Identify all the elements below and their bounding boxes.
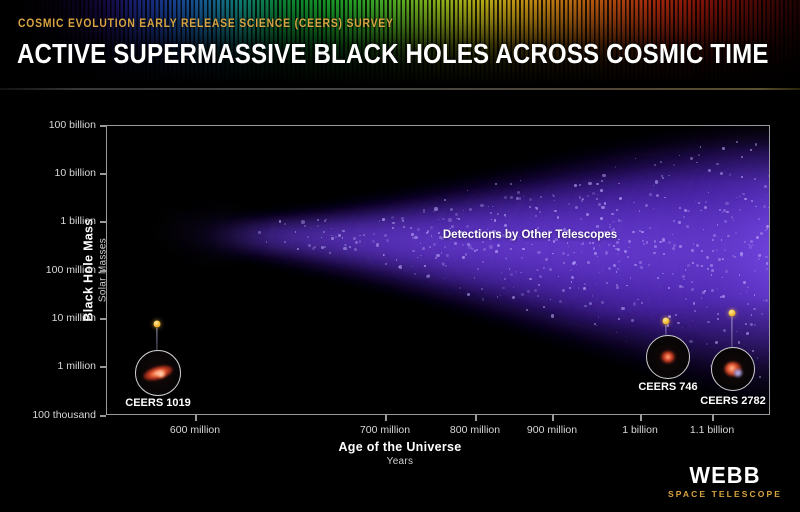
infographic-poster: COSMIC EVOLUTION EARLY RELEASE SCIENCE (… [0, 0, 800, 512]
detection-speckle [567, 254, 569, 256]
detection-speckle [608, 244, 610, 246]
detection-speckle [654, 240, 656, 242]
detection-speckle [465, 253, 467, 255]
x-tick-label: 600 million [170, 424, 220, 436]
ceers-connector-line [156, 328, 157, 350]
detection-speckle [696, 244, 699, 247]
detection-speckle [653, 185, 654, 186]
detection-speckle [266, 241, 267, 242]
detection-speckle [372, 240, 375, 243]
detection-speckle [601, 180, 603, 182]
detection-speckle [500, 295, 501, 296]
detection-speckle [757, 357, 759, 359]
detection-speckle [754, 178, 756, 180]
detection-speckle [468, 245, 471, 248]
detection-speckle [754, 270, 756, 272]
detection-speckle [342, 237, 344, 239]
detection-speckle [526, 243, 528, 245]
detection-speckle [617, 268, 619, 270]
detection-speckle [576, 264, 577, 265]
detection-speckle [549, 268, 552, 271]
detection-speckle [672, 234, 673, 235]
detection-speckle [513, 287, 514, 288]
detection-speckle [617, 253, 619, 255]
detection-speckle [515, 271, 517, 273]
detection-speckle [495, 250, 498, 253]
detection-speckle [686, 225, 689, 228]
detection-speckle [581, 251, 582, 252]
detection-speckle [768, 207, 770, 209]
detection-speckle [379, 220, 381, 222]
detection-speckle [571, 276, 574, 279]
detection-speckle [663, 253, 665, 255]
detection-speckle [747, 303, 749, 305]
detection-speckle [458, 218, 460, 220]
detection-speckle [654, 164, 656, 166]
detection-speckle [509, 268, 510, 269]
ceers-galaxy-thumbnail[interactable] [711, 347, 755, 391]
detection-speckle [706, 256, 709, 259]
detection-speckle [520, 272, 522, 274]
detection-speckle [589, 302, 592, 305]
detection-speckle [539, 211, 541, 213]
detection-speckle [386, 239, 389, 242]
webb-tagline: SPACE TELESCOPE [668, 490, 782, 499]
detection-speckle [706, 306, 708, 308]
detection-speckle [573, 252, 574, 253]
ceers-galaxy-thumbnail[interactable] [135, 350, 181, 396]
detection-speckle [489, 245, 492, 248]
detection-speckle [739, 274, 741, 276]
detection-speckle [308, 244, 311, 247]
detection-speckle [342, 230, 344, 232]
detection-speckle [596, 183, 598, 185]
detection-speckle [399, 265, 402, 268]
ceers-galaxy-thumbnail[interactable] [646, 335, 690, 379]
detection-speckle [462, 244, 464, 246]
detection-speckle [543, 306, 545, 308]
detection-speckle [420, 255, 422, 257]
detection-speckle [657, 277, 660, 280]
detection-speckle [494, 219, 496, 221]
detection-speckle [704, 290, 706, 292]
detection-speckle [649, 193, 652, 196]
detection-speckle [490, 212, 492, 214]
detection-speckle [429, 246, 431, 248]
detection-speckle [712, 250, 714, 252]
ceers-data-point[interactable] [729, 310, 736, 317]
detection-speckle [628, 247, 629, 248]
detection-speckle [616, 241, 619, 244]
y-tick-mark [100, 415, 106, 417]
detection-speckle [626, 341, 627, 342]
detection-speckle [720, 172, 723, 175]
detection-speckle [769, 344, 770, 347]
detection-speckle [363, 234, 365, 236]
detection-speckle [740, 293, 741, 294]
detection-speckle [430, 226, 433, 229]
detection-speckle [682, 286, 684, 288]
y-tick-label: 10 billion [55, 167, 96, 179]
detection-speckle [579, 184, 581, 186]
detection-speckle [331, 235, 332, 236]
detection-speckle [747, 287, 749, 289]
detection-speckle [609, 226, 611, 228]
detection-speckle [427, 274, 430, 277]
detection-speckle [626, 285, 628, 287]
detection-speckle [450, 208, 453, 211]
detection-speckle [744, 198, 746, 200]
page-title: ACTIVE SUPERMASSIVE BLACK HOLES ACROSS C… [17, 38, 769, 70]
detection-speckle [634, 264, 636, 266]
detection-speckle [613, 264, 616, 267]
detection-speckle [631, 319, 634, 322]
detection-speckle [616, 332, 617, 333]
cloud-annotation-label: Detections by Other Telescopes [443, 229, 617, 241]
detection-speckle [640, 266, 643, 269]
x-tick-mark [552, 415, 554, 421]
detection-speckle [706, 343, 708, 345]
detection-speckle [717, 224, 718, 225]
detection-speckle [660, 161, 662, 163]
detection-speckle [537, 295, 539, 297]
detection-speckle [739, 209, 741, 211]
detection-speckle [552, 253, 554, 255]
detection-speckle [536, 269, 538, 271]
detection-speckle [307, 236, 309, 238]
detection-speckle [715, 341, 718, 344]
detection-speckle [677, 322, 679, 324]
detection-speckle [673, 244, 676, 247]
detection-speckle [459, 287, 461, 289]
detection-speckle [571, 269, 572, 270]
detection-speckle [551, 314, 554, 317]
detection-speckle [581, 243, 584, 246]
detection-speckle [604, 202, 607, 205]
detection-speckle [654, 245, 657, 248]
detection-speckle [575, 206, 578, 209]
detection-speckle [618, 239, 619, 240]
detection-speckle [451, 225, 454, 228]
detection-speckle [758, 258, 760, 260]
detection-speckle [355, 241, 358, 244]
detection-speckle [693, 302, 696, 305]
detection-speckle [760, 232, 763, 235]
y-tick-label: 100 billion [49, 119, 96, 131]
detection-speckle [444, 199, 446, 201]
detection-speckle [618, 318, 620, 320]
detection-speckle [746, 291, 747, 292]
detection-speckle [545, 258, 548, 261]
detection-speckle [497, 213, 499, 215]
detection-speckle [732, 255, 734, 257]
detection-speckle [702, 291, 705, 294]
detection-speckle [766, 228, 768, 230]
detection-speckle [751, 200, 753, 202]
detection-speckle [520, 180, 521, 181]
detection-speckle [414, 273, 416, 275]
detection-speckle [753, 308, 756, 311]
detection-speckle [553, 195, 555, 197]
detection-speckle [392, 227, 394, 229]
detection-speckle [689, 340, 692, 343]
detection-speckle [501, 272, 502, 273]
detection-speckle [691, 281, 693, 283]
detection-speckle [373, 233, 375, 235]
detection-speckle [750, 323, 753, 326]
detection-speckle [734, 256, 736, 258]
detection-speckle [536, 208, 538, 210]
detection-speckle [682, 275, 685, 278]
detection-speckle [627, 256, 629, 258]
detection-speckle [743, 281, 746, 284]
detection-speckle [679, 207, 681, 209]
detection-speckle [723, 329, 726, 332]
x-tick-label: 1 billion [622, 424, 658, 436]
detection-speckle [434, 207, 437, 210]
detection-speckle [752, 350, 754, 352]
detection-speckle [599, 245, 600, 246]
detection-speckle [632, 231, 635, 234]
x-tick-mark [475, 415, 477, 421]
detection-speckle [563, 262, 565, 264]
detection-speckle [376, 243, 379, 246]
detection-speckle [574, 184, 577, 187]
detection-speckle [700, 146, 701, 147]
detection-speckle [698, 202, 700, 204]
detection-speckle [304, 225, 306, 227]
detection-speckle [602, 174, 605, 177]
ceers-data-point[interactable] [663, 318, 670, 325]
detection-speckle [668, 175, 669, 176]
detection-speckle [423, 211, 425, 213]
detection-speckle [344, 244, 346, 246]
detection-speckle [392, 222, 394, 224]
detection-speckle [531, 244, 533, 246]
detection-speckle [616, 209, 618, 211]
detection-speckle [442, 218, 445, 221]
detection-speckle [616, 284, 618, 286]
detection-speckle [653, 252, 656, 255]
detection-speckle [537, 251, 540, 254]
detection-speckle [690, 157, 693, 160]
x-tick-mark [385, 415, 387, 421]
detection-speckle [588, 182, 591, 185]
detection-speckle [529, 278, 532, 281]
detection-speckle [746, 332, 749, 335]
detection-speckle [701, 250, 703, 252]
detection-speckle [349, 246, 350, 247]
detection-speckle [480, 204, 483, 207]
detection-speckle [711, 269, 714, 272]
detection-speckle [354, 248, 356, 250]
detection-speckle [682, 327, 684, 329]
detection-speckle [467, 293, 470, 296]
detection-speckle [534, 289, 537, 292]
detection-speckle [594, 252, 597, 255]
detection-speckle [749, 245, 752, 248]
detection-speckle [433, 243, 435, 245]
x-tick-label: 900 million [527, 424, 577, 436]
detection-speckle [526, 309, 528, 311]
detection-speckle [512, 296, 515, 299]
detection-speckle [601, 301, 604, 304]
detection-speckle [587, 261, 590, 264]
detection-speckle [445, 265, 447, 267]
detection-speckle [628, 240, 631, 243]
y-tick-label: 1 million [57, 360, 96, 372]
detection-speckle [462, 256, 464, 258]
detection-speckle [598, 316, 600, 318]
detection-speckle [454, 242, 457, 245]
detection-speckle [745, 323, 747, 325]
header-divider [0, 88, 800, 90]
detection-speckle [692, 262, 694, 264]
detection-speckle [583, 287, 586, 290]
detection-speckle [769, 195, 770, 197]
detection-speckle [504, 224, 507, 227]
detection-speckle [667, 324, 670, 327]
detection-speckle [414, 236, 417, 239]
detection-speckle [630, 277, 632, 279]
detection-speckle [646, 241, 648, 243]
detection-speckle [719, 209, 721, 211]
detection-speckle [510, 273, 513, 276]
detection-speckle [691, 249, 694, 252]
detection-speckle [641, 302, 643, 304]
y-tick-label: 100 thousand [32, 409, 96, 421]
detection-speckle [567, 242, 569, 244]
detection-speckle [606, 282, 608, 284]
detection-speckle [411, 266, 412, 267]
detection-speckle [684, 209, 686, 211]
detection-speckle [482, 261, 484, 263]
detection-speckle [707, 268, 709, 270]
detection-speckle [645, 204, 648, 207]
detection-speckle [726, 211, 729, 214]
detection-speckle [613, 221, 614, 222]
header-banner: COSMIC EVOLUTION EARLY RELEASE SCIENCE (… [0, 0, 800, 92]
detection-speckle [701, 265, 703, 267]
detection-speckle [586, 213, 589, 216]
detection-speckle [637, 299, 638, 300]
detection-speckle [448, 218, 451, 221]
detection-speckle [527, 290, 530, 293]
detection-speckle [587, 195, 589, 197]
detection-speckle [687, 264, 690, 267]
detection-speckle [571, 281, 573, 283]
detection-speckle [698, 154, 700, 156]
detection-speckle [297, 248, 298, 249]
detection-speckle [469, 208, 472, 211]
detection-speckle [331, 237, 334, 240]
detection-speckle [554, 200, 555, 201]
detection-speckle [550, 299, 551, 300]
detection-speckle [600, 189, 603, 192]
detection-speckle [673, 316, 674, 317]
detection-speckle [592, 242, 593, 243]
detection-speckle [639, 261, 642, 264]
detection-speckle [763, 300, 764, 301]
detection-speckle [768, 175, 770, 178]
detection-speckle [679, 155, 680, 156]
detection-speckle [758, 254, 761, 257]
detection-speckle [596, 198, 598, 200]
detection-speckle [701, 297, 703, 299]
detection-speckle [639, 230, 640, 231]
ceers-galaxy-core [661, 351, 675, 363]
detection-speckle [463, 210, 464, 211]
webb-logo: WEBB SPACE TELESCOPE [668, 464, 782, 499]
detection-speckle [510, 196, 513, 199]
detection-speckle [685, 298, 687, 300]
detection-speckle [675, 314, 677, 316]
detection-speckle [557, 216, 560, 219]
detection-speckle [543, 267, 545, 269]
detection-speckle [521, 293, 524, 296]
y-tick-label: 10 million [52, 312, 96, 324]
detection-speckle [433, 211, 434, 212]
detection-speckle [722, 277, 723, 278]
detection-speckle [430, 230, 431, 231]
detection-speckle [672, 273, 673, 274]
detection-speckle [562, 252, 565, 255]
ceers-data-point[interactable] [154, 321, 161, 328]
detection-speckle [683, 279, 684, 280]
detection-speckle [502, 287, 505, 290]
detection-speckle [703, 229, 705, 231]
detection-speckle [643, 243, 645, 245]
detection-speckle [659, 286, 660, 287]
detection-speckle [338, 234, 341, 237]
ceers-object-label: CEERS 2782 [700, 395, 765, 407]
detection-speckle [597, 256, 598, 257]
detection-speckle [683, 216, 685, 218]
detection-speckle [569, 287, 571, 289]
detection-speckle [735, 232, 737, 234]
detection-speckle [258, 231, 261, 234]
detection-speckle [467, 190, 468, 191]
detection-speckle [754, 294, 756, 296]
detection-speckle [592, 295, 593, 296]
detection-speckle [704, 206, 707, 209]
detection-speckle [736, 331, 737, 332]
detection-speckle [521, 257, 523, 259]
detection-speckle [589, 242, 591, 244]
detection-speckle [685, 269, 686, 270]
detection-speckle [729, 174, 731, 176]
detection-speckle [621, 307, 624, 310]
detection-speckle [611, 213, 614, 216]
detection-speckle [572, 262, 575, 265]
detection-speckle [412, 250, 415, 253]
detection-speckle [597, 194, 598, 195]
detection-speckle [727, 235, 730, 238]
detection-speckle [495, 183, 497, 185]
detection-speckle [435, 257, 437, 259]
detection-speckle [618, 183, 620, 185]
detection-speckle [596, 283, 597, 284]
detection-speckle [721, 239, 722, 240]
detection-speckle [761, 313, 763, 315]
detection-speckle [639, 210, 640, 211]
detection-speckle [446, 254, 449, 257]
ceers-connector-line [731, 317, 732, 347]
detection-speckle [752, 244, 754, 246]
detection-speckle [653, 208, 655, 210]
detection-speckle [402, 220, 404, 222]
detection-speckle [720, 296, 722, 298]
